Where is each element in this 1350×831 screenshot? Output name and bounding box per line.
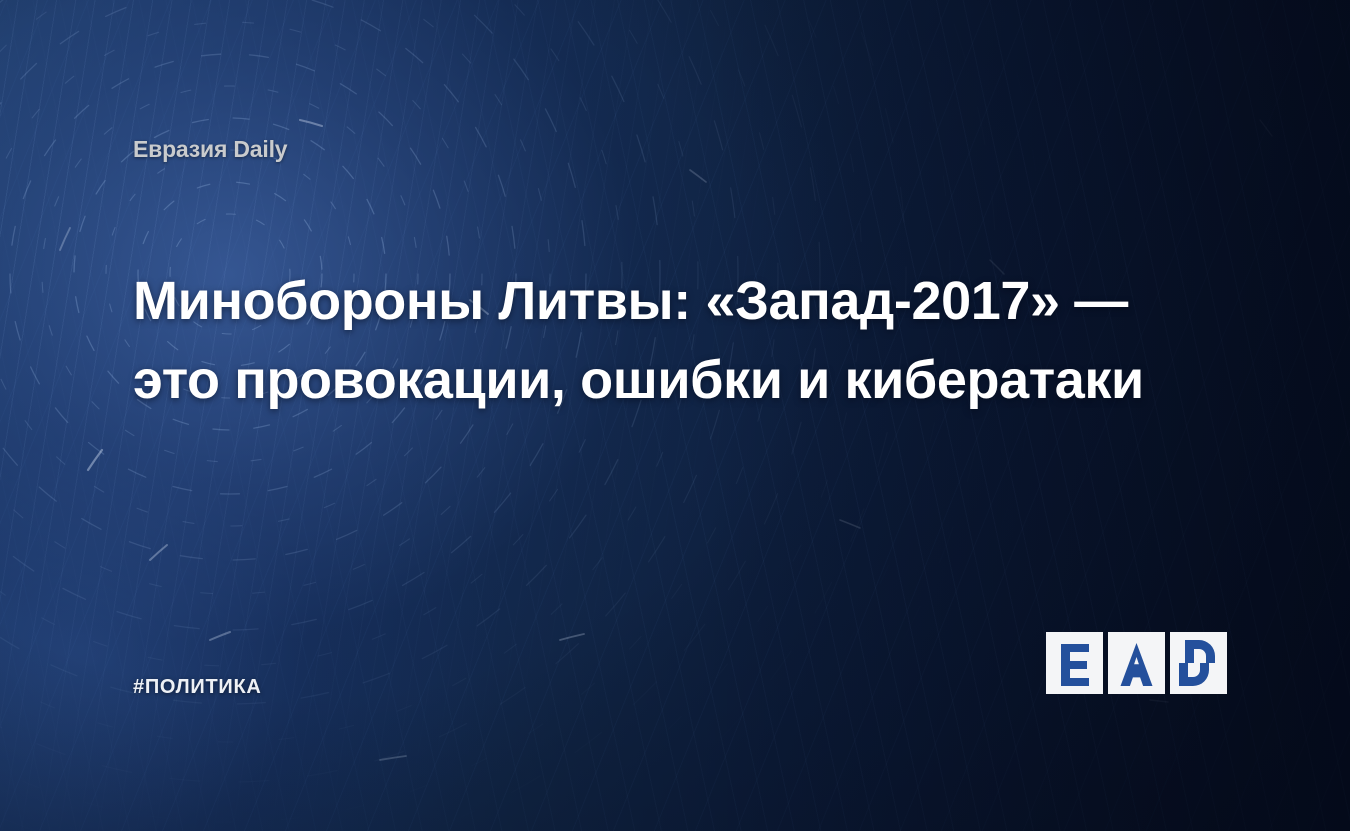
letter-a-icon xyxy=(1108,632,1165,694)
brand-wordmark: Евразия Daily xyxy=(133,136,287,163)
logo-tile-d xyxy=(1170,632,1227,694)
card-content: Евразия Daily Минобороны Литвы: «Запад-2… xyxy=(0,0,1350,831)
news-card: Евразия Daily Минобороны Литвы: «Запад-2… xyxy=(0,0,1350,831)
ead-logo[interactable] xyxy=(1046,632,1227,694)
letter-e-icon xyxy=(1046,632,1103,694)
letter-d-split-icon xyxy=(1170,632,1227,694)
page-title: Минобороны Литвы: «Запад-2017» — это про… xyxy=(133,262,1223,420)
logo-tile-a xyxy=(1108,632,1165,694)
rubric-tag-politics[interactable]: #ПОЛИТИКА xyxy=(133,676,262,699)
logo-tile-e xyxy=(1046,632,1103,694)
